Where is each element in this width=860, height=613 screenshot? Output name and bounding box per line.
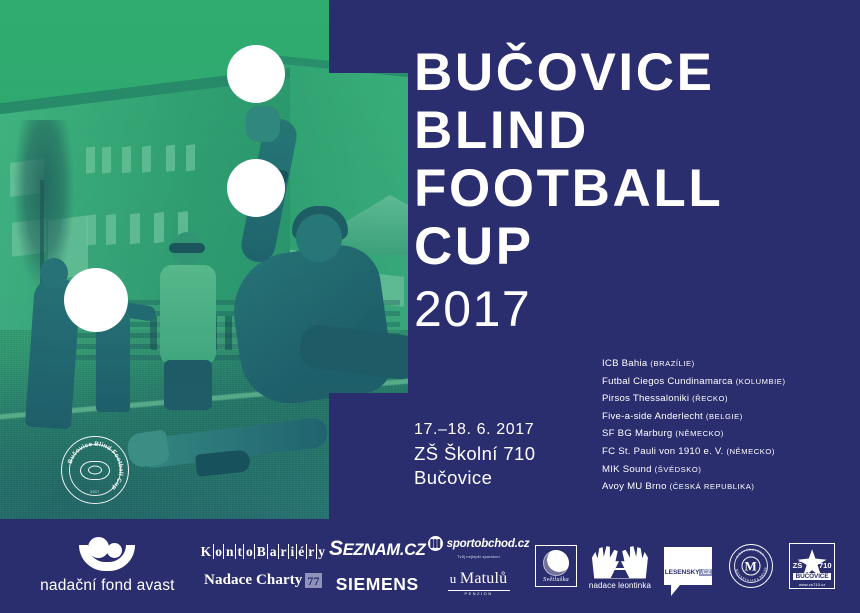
sponsor-zs710-bucovice: ZŠ 710 BUČOVICE www.zs710.cz <box>782 543 842 589</box>
sponsor-lesensky-label: LESENSKY <box>665 569 700 576</box>
event-venue: ZŠ Školní 710 <box>414 442 535 466</box>
title-line-2: BLIND <box>414 102 844 160</box>
list-item: Five-a-side Anderlecht (Belgie) <box>602 408 852 426</box>
photo-player-3 <box>160 265 216 365</box>
sponsor-svetluska: Světluška <box>529 545 582 587</box>
sponsor-sportobchod-label: sportobchod.cz <box>447 538 530 550</box>
list-item: FC St. Pauli von 1910 e. V. (Německo) <box>602 443 852 461</box>
list-item: Pirsos Thessaloniki (Řecko) <box>602 390 852 408</box>
event-badge-subtext: 2017 <box>62 490 128 494</box>
photo-eyeshade-icon <box>169 243 205 253</box>
list-item: MIK Sound (Švédsko) <box>602 461 852 479</box>
hands-face-icon <box>592 543 648 579</box>
team-name: Pirsos Thessaloniki <box>602 393 689 404</box>
list-item: SF BG Marburg (Německo) <box>602 425 852 443</box>
team-country: (Švédsko) <box>655 465 702 474</box>
sponsor-u-matulu-sub: PENZION <box>428 592 530 596</box>
event-date: 17.–18. 6. 2017 <box>414 418 535 442</box>
avast-hands-bowl-icon <box>75 537 139 571</box>
sponsor-leontinka-label: nadace leontinka <box>582 581 657 590</box>
team-name: ICB Bahia <box>602 358 647 369</box>
sponsor-bar: nadační fond avast KontoBariéry Nadace C… <box>0 519 860 613</box>
sponsor-svetluska-label: Světluška <box>536 576 576 583</box>
decorative-circle-3 <box>64 268 128 332</box>
sponsor-u-matulu-prefix: u <box>450 571 457 586</box>
list-item: Avoy MU Brno (Česká republika) <box>602 478 852 496</box>
photo-corner-notch <box>329 0 408 73</box>
sponsor-masaryk-university: UNIVERSITAS MASARYKIANA BRUNENSIS M <box>719 544 782 588</box>
sponsor-zs710-right: 710 <box>819 561 832 570</box>
team-country: (Řecko) <box>692 394 728 403</box>
sponsor-lesensky-suffix: .CZ <box>699 569 711 576</box>
sponsor-zs710-left: ZŠ <box>793 561 803 570</box>
team-name: Avoy MU Brno <box>602 481 667 492</box>
event-badge: Bučovice Blind Football Cup 2017 <box>61 436 129 504</box>
sponsor-avast: nadační fond avast <box>22 537 193 595</box>
sponsor-leontinka: nadace leontinka <box>582 543 657 590</box>
decorative-circle-1 <box>227 45 285 103</box>
list-item: ICB Bahia (Brazílie) <box>602 355 852 373</box>
sponsor-nadace-charty: Nadace Charty 77 <box>199 572 327 589</box>
sponsor-masaryk-monogram: M <box>741 557 760 576</box>
sponsor-nadace-charty-label: Nadace Charty <box>204 572 302 589</box>
team-country: (Kolumbie) <box>736 377 786 386</box>
speech-bubble-icon: LESENSKY.CZ <box>664 547 712 585</box>
team-name: SF BG Marburg <box>602 428 672 439</box>
sponsor-siemens-label: SIEMENS <box>327 574 428 595</box>
title-line-1: BUČOVICE <box>414 44 844 102</box>
sponsor-seznam-siemens: SEZNAM.CZ SIEMENS <box>327 537 428 595</box>
title-year: 2017 <box>414 278 844 340</box>
team-country: (Belgie) <box>706 412 743 421</box>
team-country: (Česká republika) <box>670 482 755 491</box>
team-country: (Brazílie) <box>650 359 694 368</box>
sponsor-konto-bariery-label: KontoBariéry <box>199 544 327 560</box>
sponsor-u-matulu-label: Matulů <box>460 570 507 587</box>
team-country: (Německo) <box>675 429 723 438</box>
event-info: 17.–18. 6. 2017 ZŠ Školní 710 Bučovice <box>414 418 535 490</box>
sponsor-avast-label: nadační fond avast <box>22 577 193 595</box>
sponsor-sportobchod-tagline: Tvůj nejlepší sportovní <box>428 555 530 559</box>
football-eye-icon <box>80 461 110 480</box>
firefly-moon-icon: Světluška <box>535 545 577 587</box>
poster-root: Bučovice Blind Football Cup 2017 BUČOVIC… <box>0 0 860 613</box>
team-name: Five-a-side Anderlecht <box>602 411 703 422</box>
sponsor-seznam-label: SEZNAM.CZ <box>327 537 428 561</box>
team-list: ICB Bahia (Brazílie) Futbal Ciegos Cundi… <box>602 355 852 496</box>
team-name: FC St. Pauli von 1910 e. V. <box>602 446 724 457</box>
page-title: BUČOVICE BLIND FOOTBALL CUP 2017 <box>414 44 844 340</box>
sponsor-nadace-charty-number: 77 <box>305 573 321 588</box>
event-city: Bučovice <box>414 466 535 490</box>
sponsor-sportobchod-matulu: sportobchod.cz Tvůj nejlepší sportovní u… <box>428 536 530 596</box>
sponsor-zs710-city: BUČOVICE <box>793 573 831 580</box>
university-seal-icon: UNIVERSITAS MASARYKIANA BRUNENSIS M <box>729 544 773 588</box>
team-name: MIK Sound <box>602 464 652 475</box>
sponsor-konto-bariery: KontoBariéry Nadace Charty 77 <box>199 544 327 589</box>
decorative-circle-2 <box>227 159 285 217</box>
star-person-icon: ZŠ 710 BUČOVICE www.zs710.cz <box>789 543 835 589</box>
sponsor-lesensky: LESENSKY.CZ <box>658 547 719 585</box>
sponsor-zs710-url: www.zs710.cz <box>790 582 834 587</box>
team-name: Futbal Ciegos Cundinamarca <box>602 376 733 387</box>
sportobchod-badge-icon <box>428 536 443 551</box>
title-line-3: FOOTBALL <box>414 160 844 218</box>
divider <box>448 590 510 591</box>
title-line-4: CUP <box>414 218 844 276</box>
sponsor-u-matulu: u Matulů <box>428 570 530 588</box>
list-item: Futbal Ciegos Cundinamarca (Kolumbie) <box>602 373 852 391</box>
team-country: (Německo) <box>727 447 775 456</box>
